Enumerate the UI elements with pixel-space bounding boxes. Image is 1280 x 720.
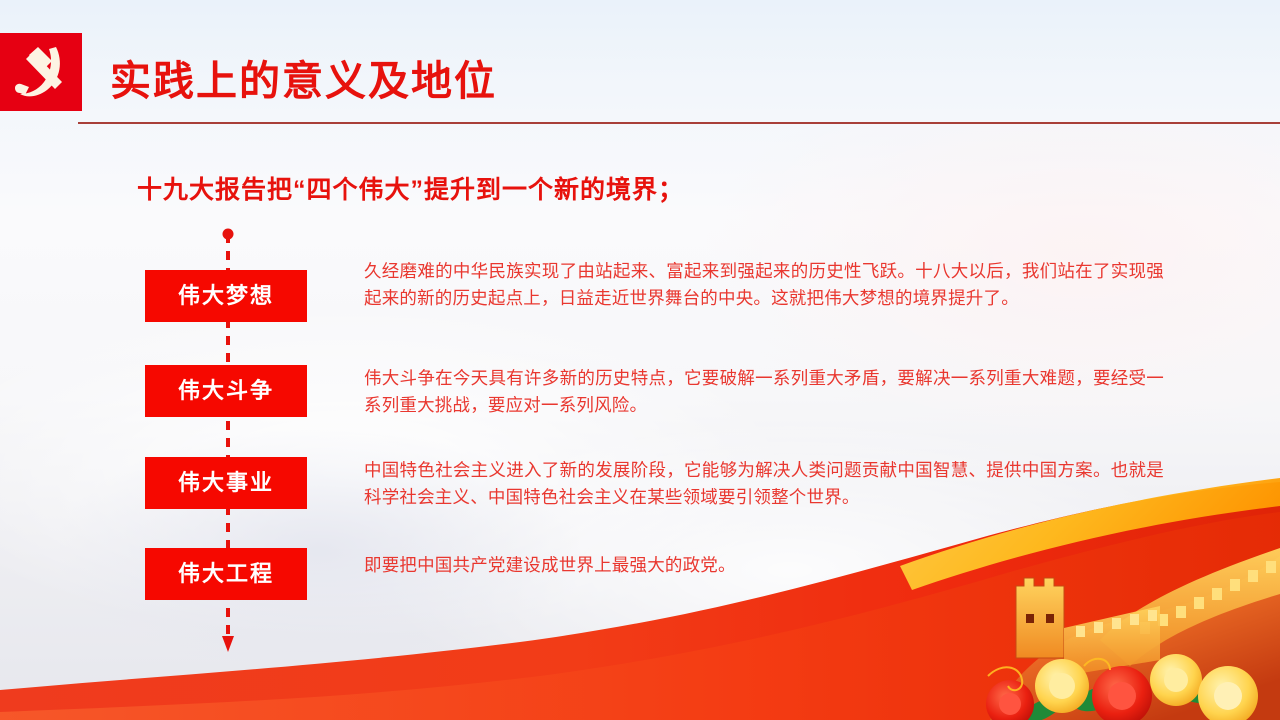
timeline-item-label: 伟大斗争 (178, 380, 274, 402)
timeline-item-chip[interactable]: 伟大梦想 (145, 270, 307, 322)
page-title: 实践上的意义及地位 (110, 47, 497, 107)
slide-header: 实践上的意义及地位 (0, 33, 1280, 123)
slide-canvas: 实践上的意义及地位 十九大报告把“四个伟大”提升到一个新的境界； 伟大梦想 久经… (0, 0, 1280, 720)
header-divider (78, 122, 1280, 124)
arrow-down-icon (222, 636, 234, 652)
great-wall-illustration-icon (980, 490, 1280, 720)
timeline-item-chip[interactable]: 伟大工程 (145, 548, 307, 600)
timeline-item-text: 久经磨难的中华民族实现了由站起来、富起来到强起来的历史性飞跃。十八大以后，我们站… (364, 258, 1164, 312)
timeline-item-text: 伟大斗争在今天具有许多新的历史特点，它要破解一系列重大矛盾，要解决一系列重大难题… (364, 365, 1164, 419)
cpc-emblem-badge (0, 33, 82, 111)
timeline-item-text: 即要把中国共产党建设成世界上最强大的政党。 (364, 552, 1164, 579)
timeline-item-text: 中国特色社会主义进入了新的发展阶段，它能够为解决人类问题贡献中国智慧、提供中国方… (364, 457, 1164, 511)
timeline-item-label: 伟大事业 (178, 472, 274, 494)
timeline-item-chip[interactable]: 伟大斗争 (145, 365, 307, 417)
cpc-hammer-sickle-emblem-icon (11, 41, 71, 103)
timeline-item-label: 伟大工程 (178, 563, 274, 585)
section-subtitle: 十九大报告把“四个伟大”提升到一个新的境界； (137, 170, 684, 206)
timeline-item-chip[interactable]: 伟大事业 (145, 457, 307, 509)
timeline-item-label: 伟大梦想 (178, 285, 274, 307)
